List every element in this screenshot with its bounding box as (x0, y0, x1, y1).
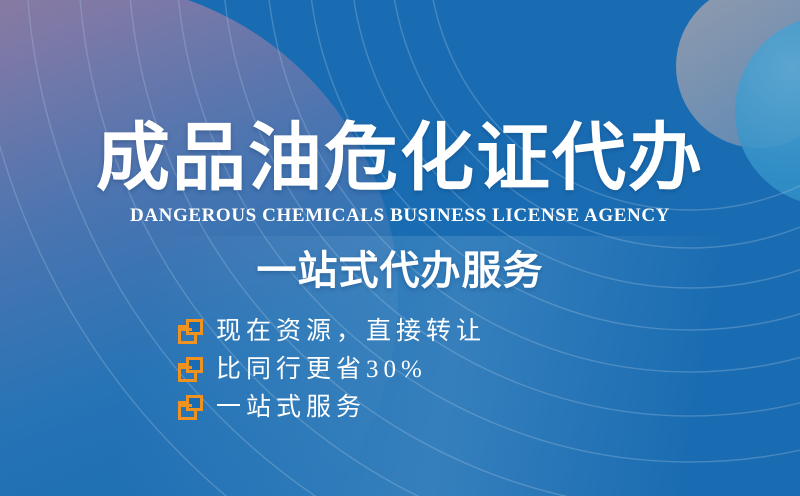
headline-title: 成品油危化证代办 (0, 116, 800, 200)
overlapping-squares-icon (178, 319, 203, 344)
list-item: 一站式服务 (178, 392, 486, 423)
overlapping-squares-icon (178, 357, 203, 382)
overlapping-squares-icon (178, 395, 203, 420)
list-item: 现在资源，直接转让 (178, 316, 486, 347)
list-item-label: 一站式服务 (216, 393, 366, 423)
subtitle-chinese: 一站式代办服务 (0, 246, 800, 296)
list-item-label: 比同行更省30% (216, 355, 427, 385)
promo-banner: 成品油危化证代办 DANGEROUS CHEMICALS BUSINESS LI… (0, 0, 800, 496)
list-item: 比同行更省30% (178, 354, 486, 385)
subtitle-english: DANGEROUS CHEMICALS BUSINESS LICENSE AGE… (0, 203, 800, 229)
banner-content: 成品油危化证代办 DANGEROUS CHEMICALS BUSINESS LI… (0, 0, 800, 496)
list-item-label: 现在资源，直接转让 (216, 317, 486, 347)
feature-bullet-list: 现在资源，直接转让 比同行更省30% 一站式服务 (178, 316, 486, 423)
